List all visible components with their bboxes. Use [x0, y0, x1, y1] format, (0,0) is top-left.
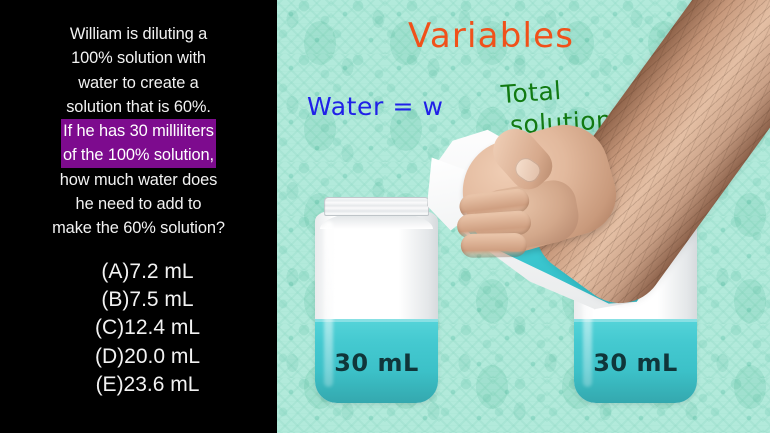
hand-finger-3	[461, 233, 527, 258]
jar-left-volume-label: 30 mL	[315, 349, 438, 377]
question-line-1-text: William is diluting a	[68, 22, 209, 46]
question-line-2: 100% solution with	[0, 46, 277, 70]
question-line-7: how much water does	[0, 168, 277, 192]
question-line-9: make the 60% solution?	[0, 216, 277, 240]
question-line-8-text: he need to add to	[74, 192, 204, 216]
question-line-4: solution that is 60%.	[0, 95, 277, 119]
total-solution-label-part1: Total	[500, 76, 562, 109]
answer-choice-c[interactable]: (C)12.4 mL	[0, 314, 277, 342]
question-line-3: water to create a	[0, 71, 277, 95]
answer-choice-a[interactable]: (A)7.2 mL	[0, 258, 277, 286]
variables-heading: Variables	[408, 16, 574, 56]
answer-choice-list: (A)7.2 mL (B)7.5 mL (C)12.4 mL (D)20.0 m…	[0, 258, 277, 399]
jar-left-neck	[324, 197, 430, 216]
question-line-4-text: solution that is 60%.	[64, 95, 213, 119]
question-text: William is diluting a 100% solution with…	[0, 22, 277, 241]
question-line-6-text: of the 100% solution,	[61, 143, 216, 167]
jar-right-volume-label: 30 mL	[574, 349, 697, 377]
jar-left: 30 mL	[315, 197, 438, 403]
question-panel: William is diluting a 100% solution with…	[0, 0, 277, 433]
question-line-1: William is diluting a	[0, 22, 277, 46]
question-line-9-text: make the 60% solution?	[50, 216, 227, 240]
question-line-6-highlighted: of the 100% solution,	[0, 143, 277, 167]
whiteboard-scene: Variables Water = w Total solution on mL…	[277, 0, 770, 433]
question-line-8: he need to add to	[0, 192, 277, 216]
answer-choice-b[interactable]: (B)7.5 mL	[0, 286, 277, 314]
lesson-frame: William is diluting a 100% solution with…	[0, 0, 770, 433]
answer-choice-e[interactable]: (E)23.6 mL	[0, 371, 277, 399]
question-line-2-text: 100% solution with	[69, 46, 208, 70]
answer-choice-d[interactable]: (D)20.0 mL	[0, 343, 277, 371]
water-variable-label: Water = w	[307, 92, 444, 121]
question-line-7-text: how much water does	[58, 168, 220, 192]
thumb-nail	[511, 154, 543, 185]
jar-left-body: 30 mL	[315, 211, 438, 403]
question-line-5-text: If he has 30 milliliters	[61, 119, 216, 143]
question-line-5-highlighted: If he has 30 milliliters	[0, 119, 277, 143]
question-line-3-text: water to create a	[76, 71, 200, 95]
